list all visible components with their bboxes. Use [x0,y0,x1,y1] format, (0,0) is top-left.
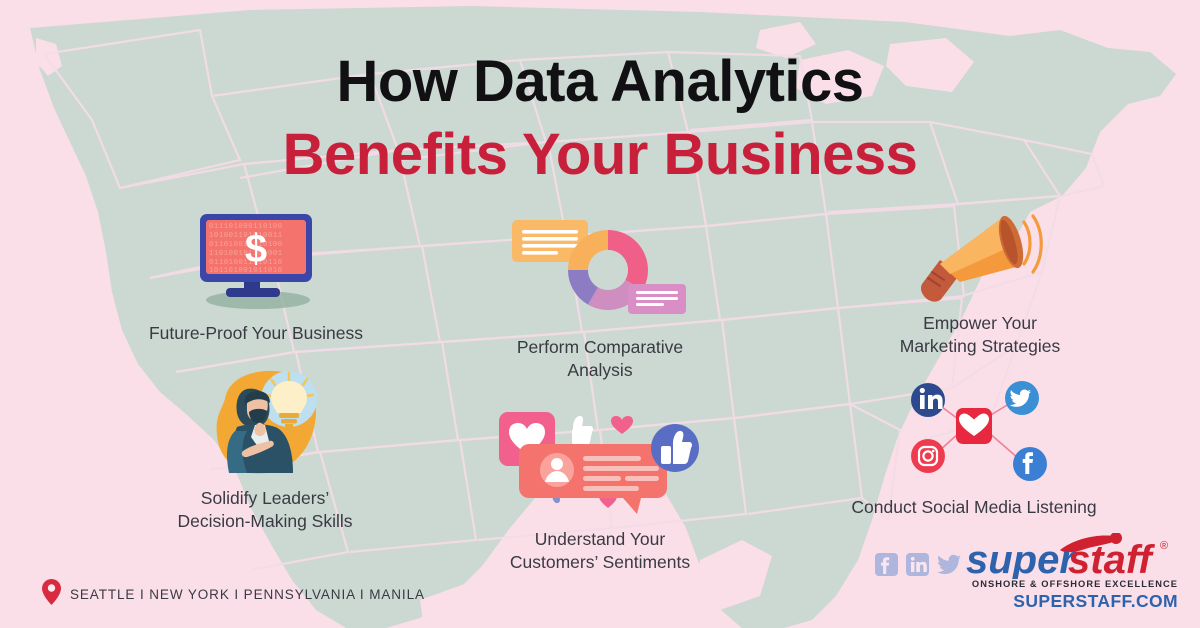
twitter-icon[interactable] [937,553,962,576]
thumbs-up-small-icon [572,416,593,445]
feature-caption: Future-Proof Your Business [106,322,406,345]
svg-text:®: ® [1160,540,1168,552]
superstaff-logo-block[interactable]: super staff ® ONSHORE & OFFSHORE EXCELLE… [964,533,1178,612]
message-bubble [519,444,667,514]
office-locations: SEATTLE I NEW YORK I PENNSYLVANIA I MANI… [42,579,425,610]
map-pin-icon [42,579,61,610]
heart-hub-icon [956,408,992,444]
feature-caption: Understand Your Customers’ Sentiments [486,528,714,574]
chat-bubble-reactions-icon [486,406,714,514]
svg-text:staff: staff [1068,538,1155,579]
svg-text:$: $ [245,227,267,271]
feature-caption: Empower Your Marketing Strategies [880,312,1080,358]
feature-caption: Solidify Leaders’ Decision-Making Skills [128,487,402,533]
svg-text:super: super [966,538,1077,579]
headline-line-2: Benefits Your Business [0,125,1200,184]
heart-small-icon [611,416,633,434]
donut-chart-icon [478,214,722,322]
feature-social-listening: Conduct Social Media Listening [828,370,1120,519]
headline: How Data Analytics Benefits Your Busines… [0,52,1200,184]
feature-customer-sentiments: Understand Your Customers’ Sentiments [486,406,714,574]
headline-line-1: How Data Analytics [0,52,1200,111]
linkedin-icon[interactable] [906,553,929,576]
brand-domain[interactable]: SUPERSTAFF.COM [964,591,1178,612]
facebook-icon[interactable] [875,553,898,576]
linkedin-icon [911,383,945,417]
feature-solidify-leaders: Solidify Leaders’ Decision-Making Skills [128,365,402,533]
superstaff-wordmark: super staff ® [964,533,1178,577]
brand-tagline: ONSHORE & OFFSHORE EXCELLENCE [964,579,1178,589]
feature-future-proof: 011101000110100 101001101010011 01101001… [106,212,406,345]
thumbs-up-circle-icon [651,424,699,472]
megaphone-icon [880,206,1080,304]
feature-marketing-strategies: Empower Your Marketing Strategies [880,206,1080,358]
social-network-heart-icon [828,370,1120,482]
footer-social-icons [875,553,962,576]
facebook-icon [1013,447,1047,481]
feature-comparative-analysis: Perform Comparative Analysis [478,214,722,382]
locations-text: SEATTLE I NEW YORK I PENNSYLVANIA I MANI… [70,587,425,602]
thinking-businessman-lightbulb-icon [128,365,402,477]
feature-caption: Perform Comparative Analysis [478,336,722,382]
infographic-canvas: How Data Analytics Benefits Your Busines… [0,0,1200,628]
twitter-icon [1005,381,1039,415]
feature-caption: Conduct Social Media Listening [828,496,1120,519]
chart-callout-card-bottom [628,284,686,314]
instagram-icon [911,439,945,473]
monitor-binary-dollar-icon: 011101000110100 101001101010011 01101001… [106,212,406,310]
